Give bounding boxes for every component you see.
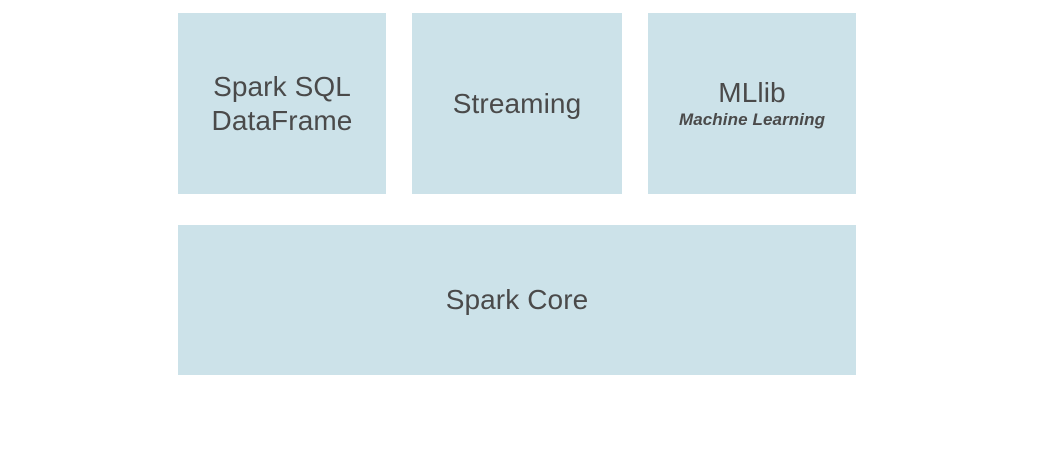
spark-stack-diagram: Spark SQL DataFrame Streaming MLlib Mach… (0, 0, 1053, 457)
diagram-block-mllib[interactable]: MLlib Machine Learning (648, 13, 856, 194)
block-title-spark-sql: Spark SQL DataFrame (212, 70, 353, 136)
block-title-spark-core: Spark Core (446, 283, 589, 316)
block-title-mllib: MLlib (718, 76, 785, 109)
diagram-block-spark-core[interactable]: Spark Core (178, 225, 856, 375)
diagram-block-spark-sql[interactable]: Spark SQL DataFrame (178, 13, 386, 194)
block-subtitle-mllib: Machine Learning (679, 110, 825, 130)
block-title-streaming: Streaming (453, 87, 582, 120)
diagram-block-streaming[interactable]: Streaming (412, 13, 622, 194)
